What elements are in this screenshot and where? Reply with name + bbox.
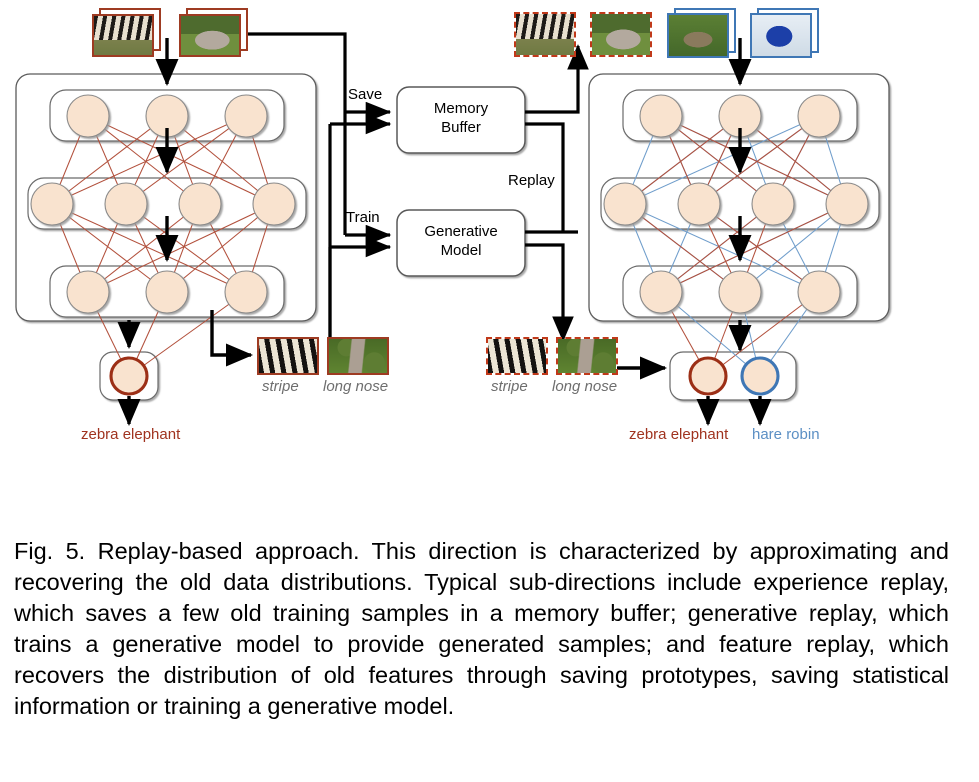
- left-output-node-old: [111, 358, 147, 394]
- generative-model-label-line1: Generative: [397, 222, 525, 241]
- left-class-label-old: zebra elephant: [81, 426, 180, 443]
- figure-canvas: Save Train Replay Memory Buffer Generati…: [0, 0, 979, 470]
- robin-photo-content: [752, 15, 810, 56]
- hare-photo-content: [669, 15, 727, 56]
- memory-buffer-label-line1: Memory: [397, 99, 525, 118]
- right-input-robin[interactable]: [750, 13, 812, 58]
- stripe-photo-content: [488, 339, 546, 373]
- train-label: Train: [346, 209, 380, 226]
- memory-buffer-label-line2: Buffer: [397, 118, 525, 137]
- left-feature-stripe[interactable]: [257, 337, 319, 375]
- memory-buffer-label: Memory Buffer: [397, 99, 525, 137]
- long-nose-photo-content: [329, 339, 387, 373]
- right-input-hare[interactable]: [667, 13, 729, 58]
- zebra-photo-content: [516, 14, 574, 55]
- left-feature-label-long-nose: long nose: [323, 378, 388, 395]
- long-nose-photo-content: [558, 339, 616, 373]
- zebra-photo-content: [94, 16, 152, 55]
- elephant-photo-content: [181, 16, 239, 55]
- left-feature-long-nose[interactable]: [327, 337, 389, 375]
- elephant-photo-content: [592, 14, 650, 55]
- left-feature-label-stripe: stripe: [262, 378, 299, 395]
- right-input-elephant[interactable]: [590, 12, 652, 57]
- left-layer-3-nodes: [67, 271, 267, 313]
- left-input-zebra[interactable]: [92, 14, 154, 57]
- figure-caption: Fig. 5. Replay-based approach. This dire…: [14, 536, 949, 722]
- generative-model-label-line2: Model: [397, 241, 525, 260]
- left-input-elephant[interactable]: [179, 14, 241, 57]
- right-output-node-old: [690, 358, 726, 394]
- right-input-zebra[interactable]: [514, 12, 576, 57]
- save-label: Save: [348, 86, 382, 103]
- right-layer-3-nodes: [640, 271, 840, 313]
- right-network-group: [589, 38, 889, 424]
- right-class-label-old: zebra elephant: [629, 426, 728, 443]
- replay-label: Replay: [508, 172, 555, 189]
- right-feature-stripe[interactable]: [486, 337, 548, 375]
- figure-caption-text: Fig. 5. Replay-based approach. This dire…: [14, 538, 949, 719]
- right-feature-label-long-nose: long nose: [552, 378, 617, 395]
- right-class-label-new: hare robin: [752, 426, 820, 443]
- right-output-node-new: [742, 358, 778, 394]
- replay-gen-to-features: [525, 245, 563, 340]
- generative-model-label: Generative Model: [397, 222, 525, 260]
- right-feature-long-nose[interactable]: [556, 337, 618, 375]
- right-feature-label-stripe: stripe: [491, 378, 528, 395]
- stripe-photo-content: [259, 339, 317, 373]
